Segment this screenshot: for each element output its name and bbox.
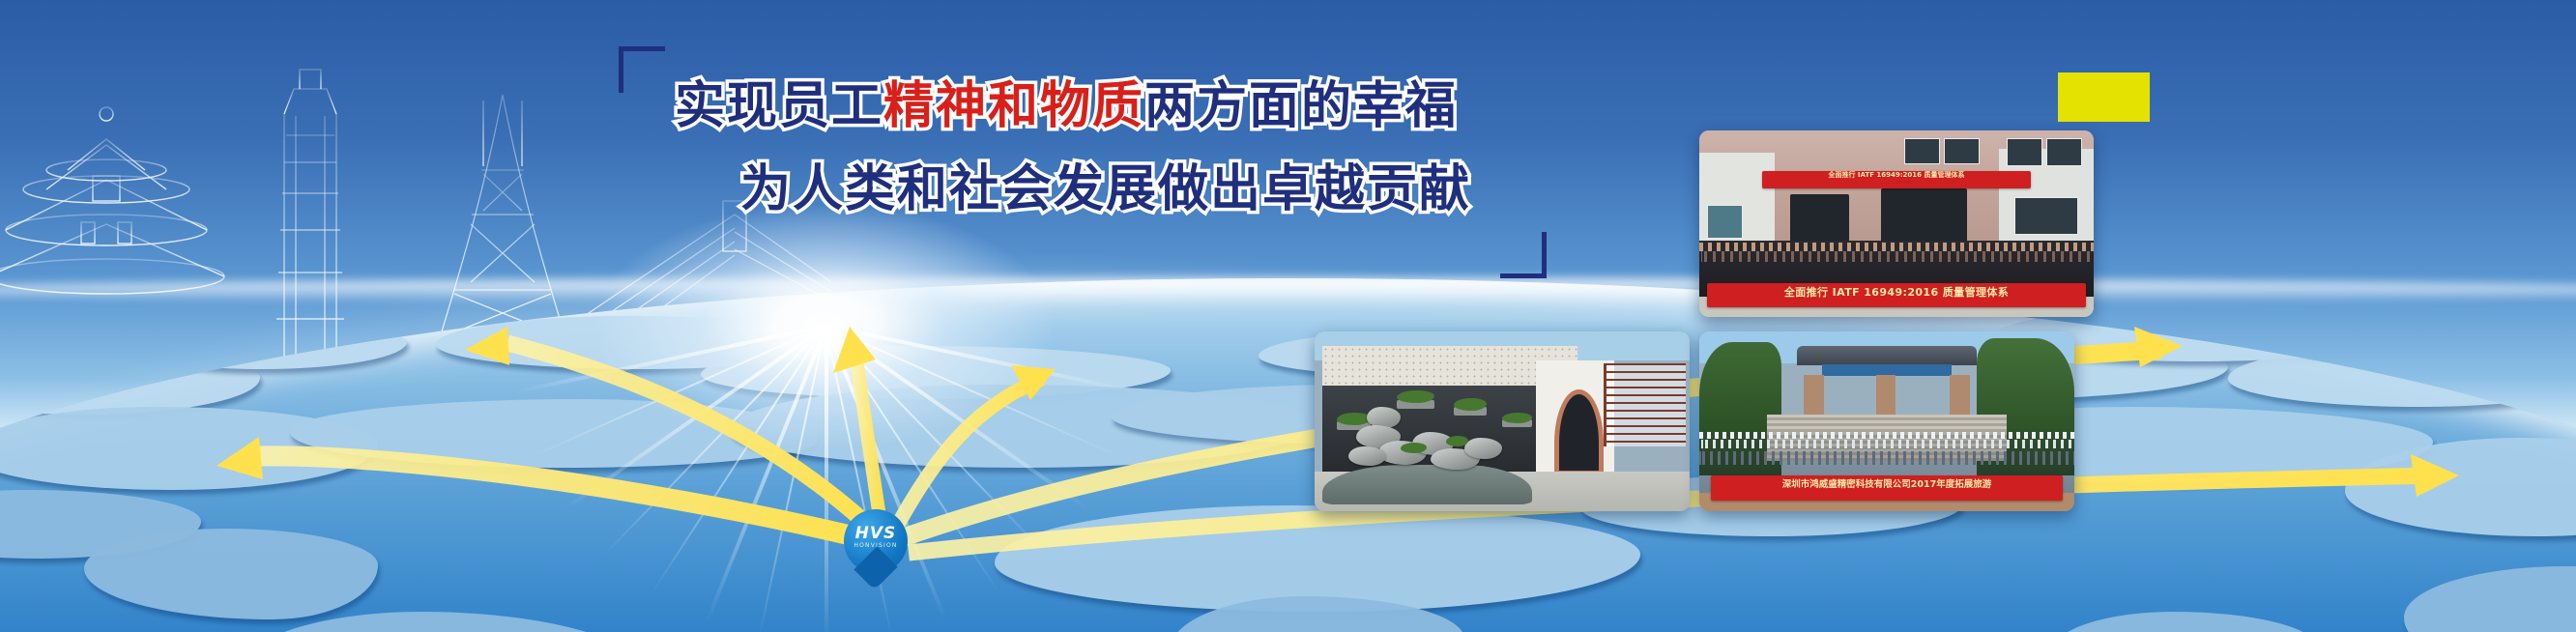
photo-iatf-group[interactable]: 全面推行 IATF 16949:2016 质量管理体系 全面推行 IATF 16… — [1699, 130, 2094, 317]
slogan-l2-part-1: 为人类和社会发展做出卓越贡献 — [740, 160, 1471, 218]
yellow-accent-card — [2058, 72, 2150, 122]
photo-iatf-content: 全面推行 IATF 16949:2016 质量管理体系 全面推行 IATF 16… — [1699, 130, 2094, 317]
photo-team-travel[interactable]: 深圳市鸿威盛精密科技有限公司2017年度拓展旅游 — [1699, 331, 2074, 511]
photo-travel-content: 深圳市鸿威盛精密科技有限公司2017年度拓展旅游 — [1699, 331, 2074, 511]
company-culture-banner: HVS HONVISION 实现员工精神和物质两方面的幸福 为人类和社会发展做出… — [0, 0, 2576, 632]
memorial-archway — [1797, 346, 1977, 421]
photo-courtyard-garden[interactable] — [1315, 331, 1690, 511]
photo-travel-banner: 深圳市鸿威盛精密科技有限公司2017年度拓展旅游 — [1711, 475, 2064, 501]
slogan-line-2: 为人类和社会发展做出卓越贡献 — [740, 164, 1471, 215]
photo-garden-content — [1315, 331, 1690, 511]
brand-mark: HVS — [844, 526, 908, 542]
honvision-logo-pin: HVS HONVISION — [844, 509, 908, 590]
bracket-bottom-right — [1500, 232, 1547, 278]
photo-iatf-banner-top: 全面推行 IATF 16949:2016 质量管理体系 — [1762, 171, 2030, 187]
slogan-block: 实现员工精神和物质两方面的幸福 为人类和社会发展做出卓越贡献 — [619, 46, 1547, 278]
slogan-l1-part-3: 两方面的幸福 — [1144, 77, 1458, 135]
slogan-l1-part-2: 精神和物质 — [883, 77, 1144, 135]
brand-name: HONVISION — [844, 543, 908, 549]
slogan-line-1: 实现员工精神和物质两方面的幸福 — [675, 81, 1458, 131]
photo-iatf-banner-bottom: 全面推行 IATF 16949:2016 质量管理体系 — [1707, 283, 2086, 307]
slogan-l1-part-1: 实现员工 — [675, 77, 883, 135]
globe-horizon-glow — [0, 278, 2576, 303]
bracket-top-left — [619, 46, 665, 93]
